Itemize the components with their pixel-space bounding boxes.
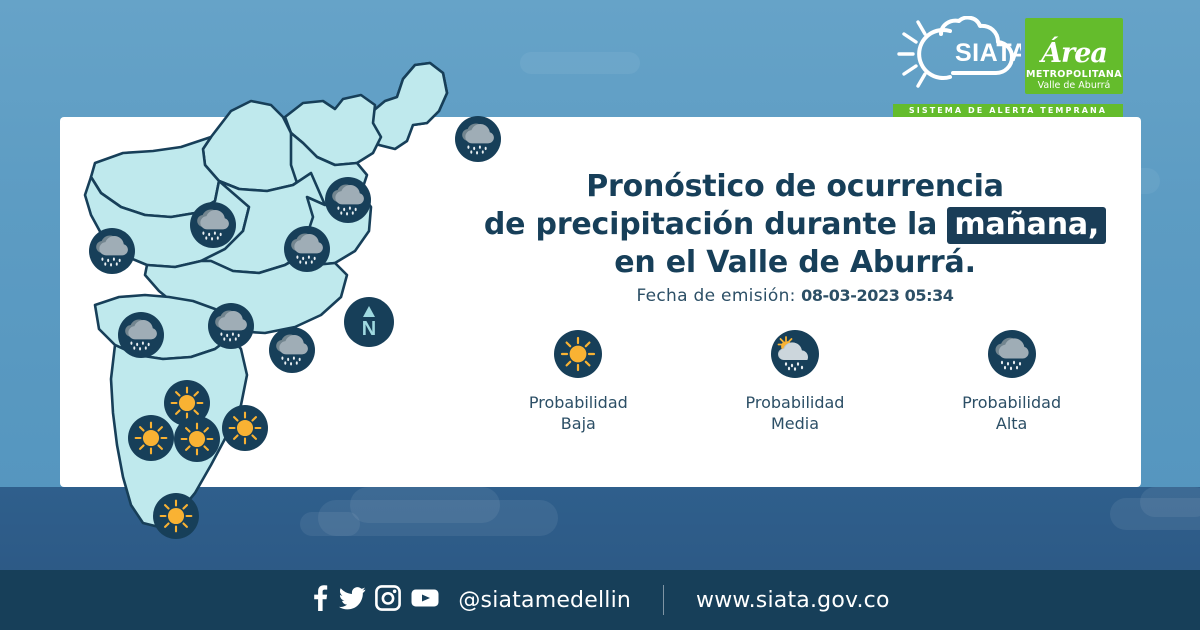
website-url[interactable]: www.siata.gov.co <box>696 588 890 613</box>
rain-cloud-icon <box>988 330 1036 378</box>
twitter-icon[interactable] <box>339 585 366 615</box>
legend-item-baja: Probabilidad Baja <box>498 330 658 434</box>
footer-divider <box>663 585 664 615</box>
headline-line-3: en el Valle de Aburrá. <box>470 244 1120 282</box>
legend-label-baja: Probabilidad Baja <box>529 392 628 434</box>
marker-la-estrella <box>128 415 174 461</box>
siata-tagline-text: SISTEMA DE ALERTA TEMPRANA <box>909 106 1107 115</box>
headline-line-2: de precipitación durante la mañana, <box>470 206 1120 244</box>
area-logo-line1: METROPOLITANA <box>1026 69 1122 80</box>
background-cloud-decor <box>1140 487 1200 517</box>
issue-date-value: 08-03-2023 05:34 <box>801 286 953 305</box>
legend-alta-line2: Alta <box>996 414 1027 433</box>
compass-label: N <box>362 318 376 340</box>
marker-sabaneta <box>174 416 220 462</box>
legend: Probabilidad Baja <box>470 330 1120 450</box>
headline-line-2-text: de precipitación durante la <box>484 207 937 242</box>
facebook-icon[interactable] <box>310 585 330 615</box>
area-metropolitana-logo: Área METROPOLITANA Valle de Aburrá <box>1025 18 1123 94</box>
marker-girardota <box>325 177 371 223</box>
marker-caldas-s <box>153 493 199 539</box>
compass-rose: N <box>344 297 394 347</box>
instagram-icon[interactable] <box>375 585 401 615</box>
legend-baja-line1: Probabilidad <box>529 393 628 412</box>
page-title: Pronóstico de ocurrencia de precipitació… <box>470 168 1120 282</box>
legend-alta-line1: Probabilidad <box>962 393 1061 412</box>
marker-bello <box>190 202 236 248</box>
infographic-root: SIATA Área METROPOLITANA Valle de Aburrá… <box>0 0 1200 630</box>
siata-logo: SIATA <box>893 16 1021 92</box>
marker-copacabana <box>284 226 330 272</box>
footer: @siatamedellin www.siata.gov.co <box>0 570 1200 630</box>
marker-envigado <box>269 327 315 373</box>
siata-tagline: SISTEMA DE ALERTA TEMPRANA <box>893 104 1123 117</box>
header-logos: SIATA Área METROPOLITANA Valle de Aburrá… <box>893 16 1125 112</box>
legend-label-media: Probabilidad Media <box>746 392 845 434</box>
legend-media-line2: Media <box>771 414 819 433</box>
area-logo-script: Área <box>1041 40 1107 68</box>
headline-line-1: Pronóstico de ocurrencia <box>470 168 1120 206</box>
legend-item-media: Probabilidad Media <box>715 330 875 434</box>
marker-medellin-nw <box>89 228 135 274</box>
area-logo-line2: Valle de Aburrá <box>1038 80 1111 91</box>
sun-icon <box>554 330 602 378</box>
siata-logo-text: SIATA <box>955 39 1021 67</box>
background-cloud-decor <box>520 52 640 74</box>
youtube-icon[interactable] <box>410 585 440 615</box>
social-handle[interactable]: @siatamedellin <box>458 588 631 613</box>
marker-medellin-c <box>208 303 254 349</box>
legend-media-line1: Probabilidad <box>746 393 845 412</box>
marker-medellin-w <box>118 312 164 358</box>
issue-date-label: Fecha de emisión: <box>636 286 795 306</box>
marker-barbosa <box>455 116 501 162</box>
sun-rain-cloud-icon <box>771 330 819 378</box>
marker-caldas-n <box>222 405 268 451</box>
legend-label-alta: Probabilidad Alta <box>962 392 1061 434</box>
issue-date: Fecha de emisión: 08-03-2023 05:34 <box>470 286 1120 306</box>
headline-highlight: mañana, <box>947 207 1106 244</box>
legend-baja-line2: Baja <box>561 414 596 433</box>
legend-item-alta: Probabilidad Alta <box>932 330 1092 434</box>
